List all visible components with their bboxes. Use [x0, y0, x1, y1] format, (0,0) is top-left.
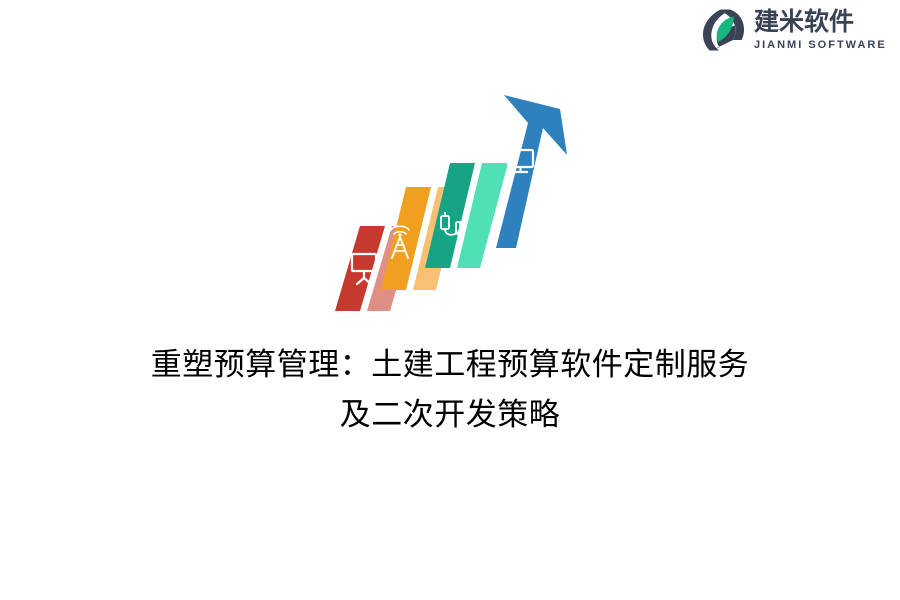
page-title-line-1: 重塑预算管理：土建工程预算软件定制服务	[0, 340, 900, 390]
hero-arrow	[496, 95, 567, 248]
brand-text-group: 建米软件 JIANMI SOFTWARE	[754, 8, 887, 51]
jianmi-leaf-swoosh-logo-icon	[700, 6, 748, 54]
brand-name-cn: 建米软件	[754, 9, 887, 35]
brand-logo: 建米软件 JIANMI SOFTWARE	[700, 2, 900, 58]
brand-name-en: JIANMI SOFTWARE	[754, 39, 887, 52]
page-title: 重塑预算管理：土建工程预算软件定制服务 及二次开发策略	[0, 340, 900, 440]
hero-illustration	[330, 38, 600, 328]
page-title-line-2: 及二次开发策略	[0, 390, 900, 440]
page-root: 建米软件 JIANMI SOFTWARE	[0, 0, 900, 600]
